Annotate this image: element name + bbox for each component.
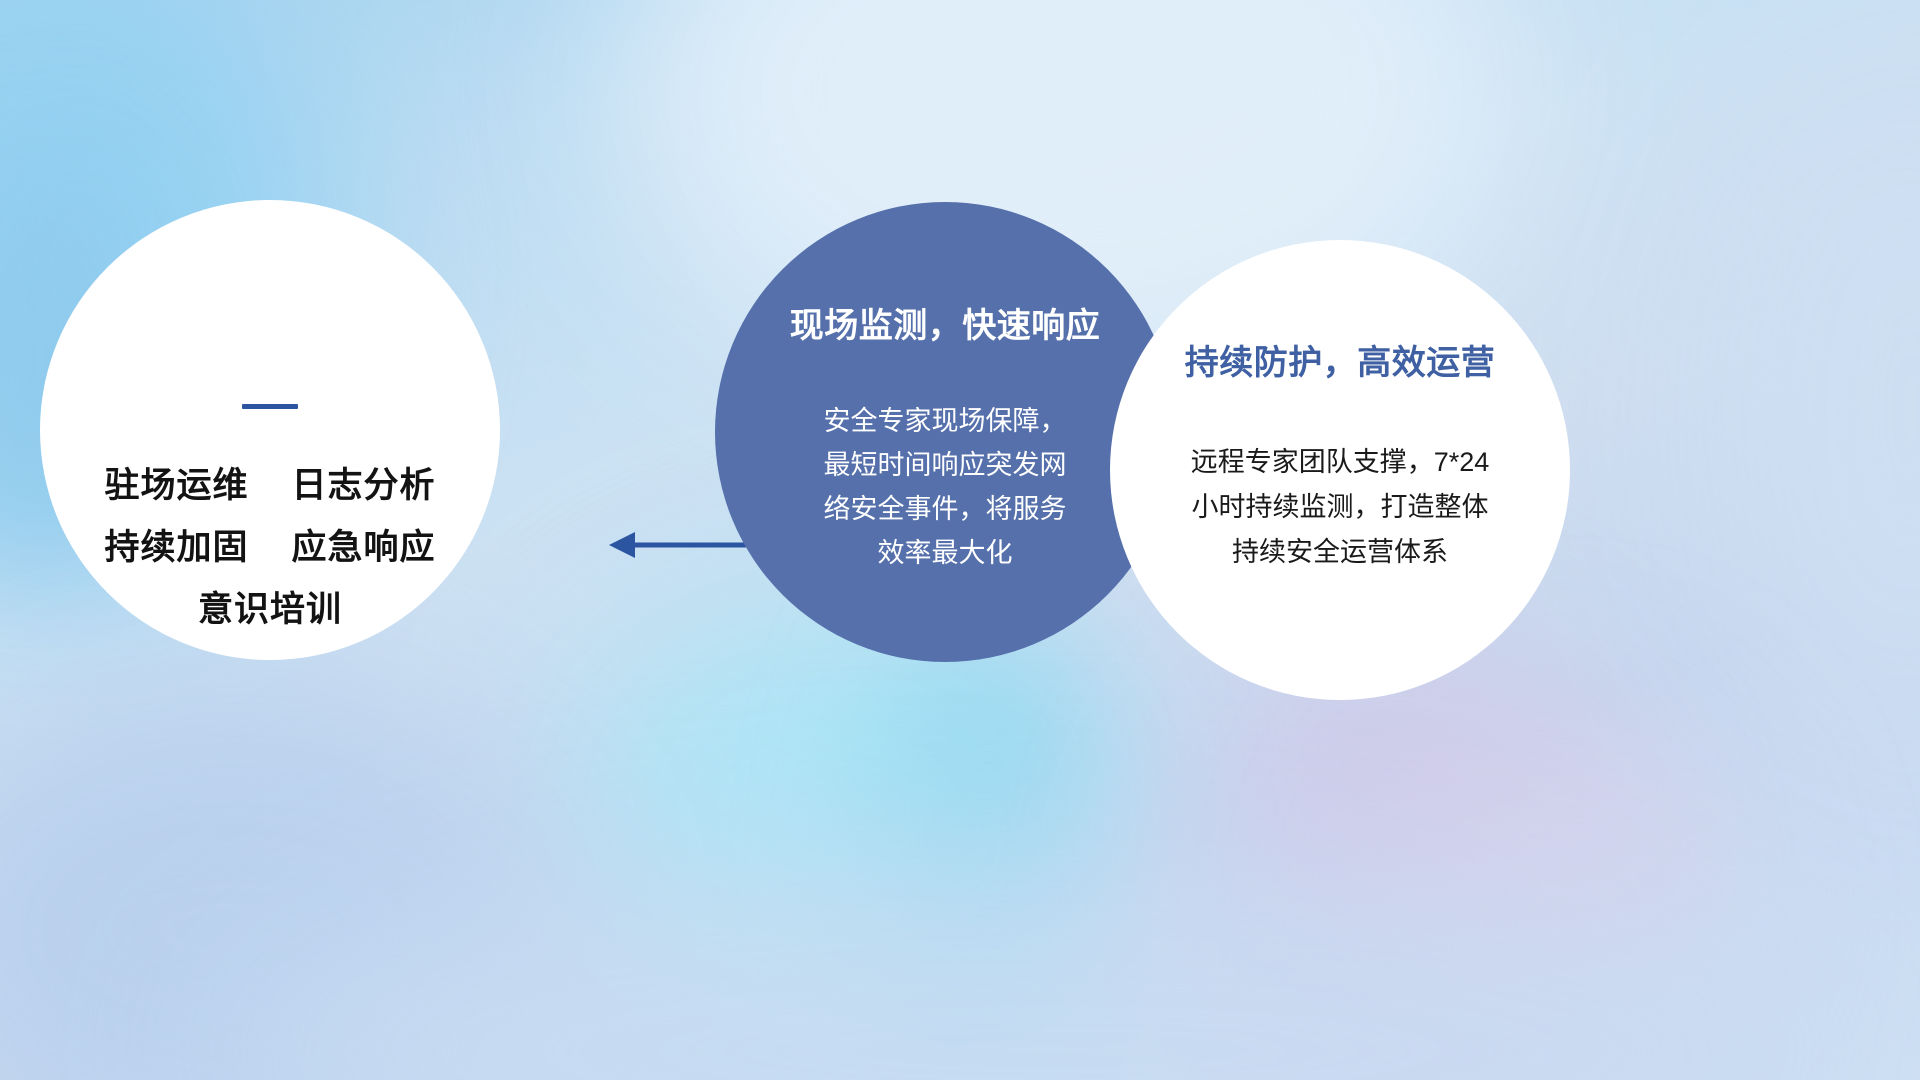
onsite-monitoring-body: 安全专家现场保障， 最短时间响应突发网 络安全事件，将服务 效率最大化 xyxy=(795,399,1095,575)
continuous-protection-title: 持续防护，高效运营 xyxy=(1185,335,1496,384)
capability-line-3: 意识培训 xyxy=(105,579,436,641)
capability-keyword-list: 驻场运维 日志分析 持续加固 应急响应 意识培训 xyxy=(105,455,436,641)
accent-dash-divider xyxy=(242,404,298,409)
onsite-monitoring-body-line-1: 安全专家现场保障， xyxy=(795,399,1095,443)
onsite-monitoring-title: 现场监测，快速响应 xyxy=(790,298,1101,347)
onsite-monitoring-body-line-2: 最短时间响应突发网 xyxy=(795,443,1095,487)
continuous-protection-body-line-3: 持续安全运营体系 xyxy=(1160,530,1520,575)
continuous-protection-body-line-2: 小时持续监测，打造整体 xyxy=(1160,485,1520,530)
capability-line-2: 持续加固 应急响应 xyxy=(105,517,436,579)
continuous-protection-body: 远程专家团队支撑，7*24 小时持续监测，打造整体 持续安全运营体系 xyxy=(1160,440,1520,575)
slide-canvas: 驻场运维 日志分析 持续加固 应急响应 意识培训 现场监测，快速响应 安全专家现… xyxy=(0,0,1920,1080)
onsite-monitoring-body-line-4: 效率最大化 xyxy=(795,531,1095,575)
node-onsite-monitoring[interactable]: 现场监测，快速响应 安全专家现场保障， 最短时间响应突发网 络安全事件，将服务 … xyxy=(715,202,1175,662)
node-continuous-protection[interactable]: 持续防护，高效运营 远程专家团队支撑，7*24 小时持续监测，打造整体 持续安全… xyxy=(1110,240,1570,700)
onsite-monitoring-body-line-3: 络安全事件，将服务 xyxy=(795,487,1095,531)
node-onsite-capabilities[interactable]: 驻场运维 日志分析 持续加固 应急响应 意识培训 xyxy=(40,200,500,660)
continuous-protection-body-line-1: 远程专家团队支撑，7*24 xyxy=(1160,440,1520,485)
capability-line-1: 驻场运维 日志分析 xyxy=(105,455,436,517)
